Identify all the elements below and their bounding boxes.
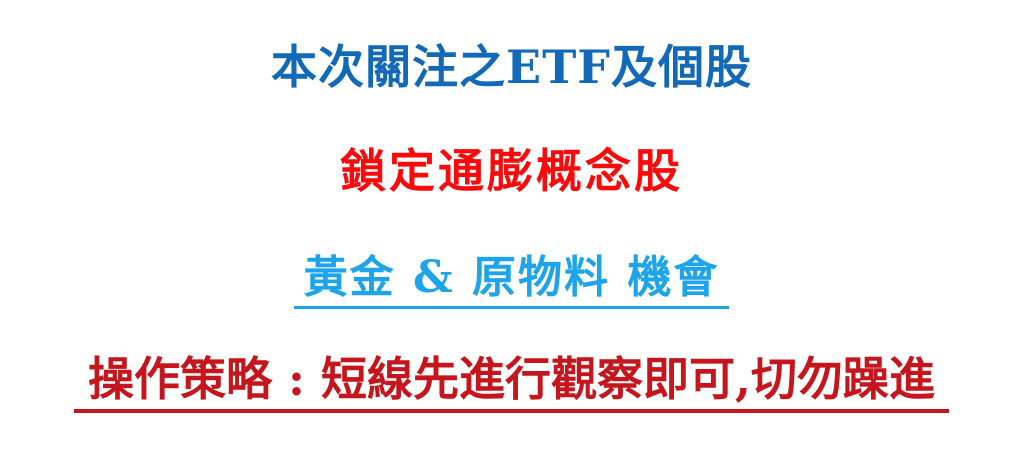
inflation-concept-stocks-heading: 鎖定通膨概念股 xyxy=(0,148,1023,194)
etf-and-stocks-heading-text: 本次關注之ETF及個股 xyxy=(271,40,752,94)
presentation-slide: 本次關注之ETF及個股 鎖定通膨概念股 黃金 & 原物料 機會 操作策略 : 短… xyxy=(0,0,1023,476)
gold-and-commodities-opportunity-heading: 黃金 & 原物料 機會 xyxy=(0,256,1023,309)
trading-strategy-text: 操作策略 : 短線先進行觀察即可,切勿躁進 xyxy=(74,356,949,413)
gold-and-commodities-opportunity-text: 黃金 & 原物料 機會 xyxy=(294,256,730,309)
trading-strategy-note: 操作策略 : 短線先進行觀察即可,切勿躁進 xyxy=(0,356,1023,413)
inflation-concept-stocks-text: 鎖定通膨概念股 xyxy=(340,144,683,198)
etf-and-stocks-heading: 本次關注之ETF及個股 xyxy=(0,44,1023,90)
